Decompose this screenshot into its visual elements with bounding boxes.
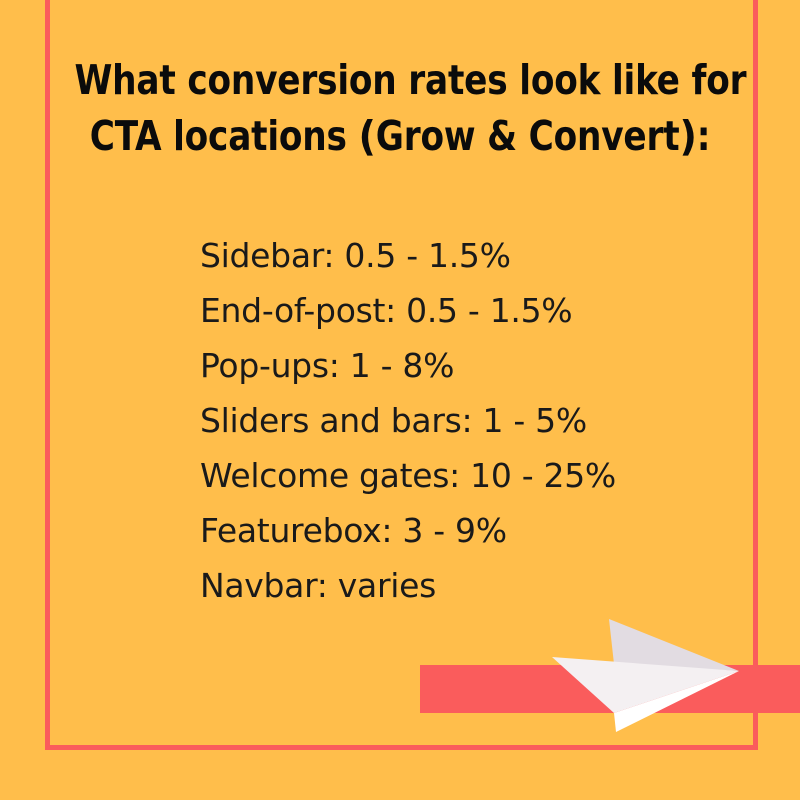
- infographic-canvas: What conversion rates look like for CTA …: [0, 0, 800, 800]
- list-item: Navbar: varies: [200, 558, 740, 613]
- frame-border-left: [45, 0, 50, 750]
- paper-plane-shape: [552, 608, 744, 736]
- frame-border-bottom: [45, 745, 758, 750]
- list-item: Featurebox: 3 - 9%: [200, 503, 740, 558]
- conversion-rate-list: Sidebar: 0.5 - 1.5% End-of-post: 0.5 - 1…: [200, 228, 740, 613]
- title-line-1: What conversion rates look like for: [75, 52, 726, 108]
- title-paren-open: (: [359, 112, 376, 160]
- title-paren-close: ): [679, 112, 696, 160]
- title-line-2-prefix: CTA locations: [90, 112, 359, 160]
- frame-border-right: [753, 0, 758, 750]
- list-item: Welcome gates: 10 - 25%: [200, 448, 740, 503]
- paper-plane-icon: [552, 608, 744, 736]
- list-item: End-of-post: 0.5 - 1.5%: [200, 283, 740, 338]
- title-source-name: Grow & Convert: [376, 112, 680, 160]
- page-title: What conversion rates look like for CTA …: [75, 52, 726, 164]
- list-item: Sliders and bars: 1 - 5%: [200, 393, 740, 448]
- list-item: Pop-ups: 1 - 8%: [200, 338, 740, 393]
- title-line-2: CTA locations (Grow & Convert):: [75, 108, 726, 164]
- title-line-2-suffix: :: [697, 112, 711, 160]
- list-item: Sidebar: 0.5 - 1.5%: [200, 228, 740, 283]
